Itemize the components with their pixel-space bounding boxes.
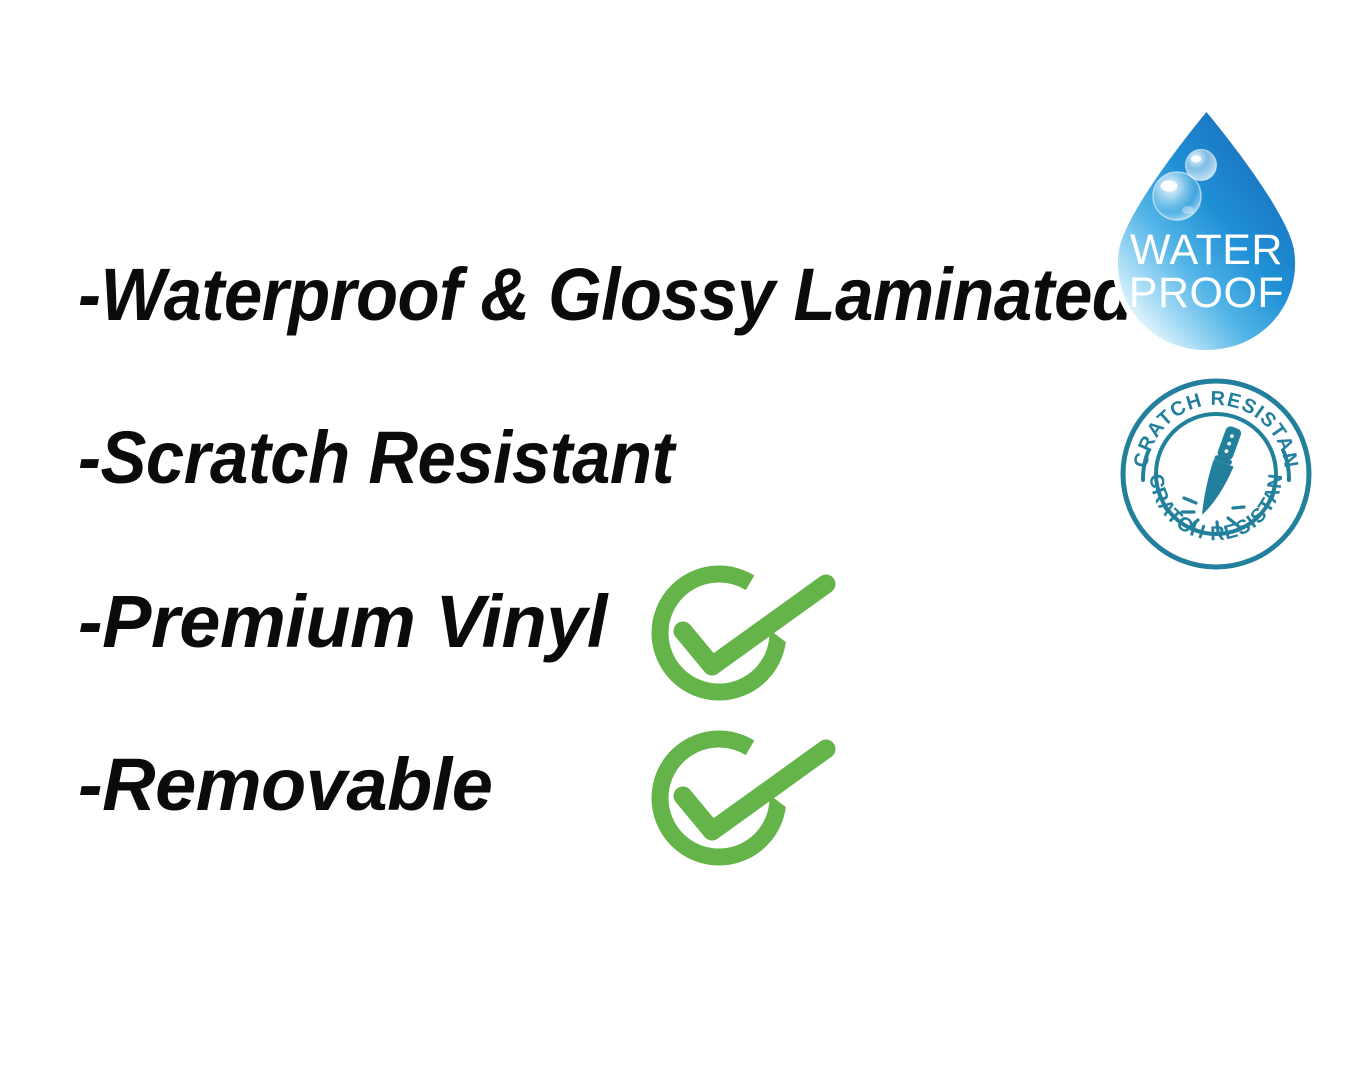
waterproof-label-line2: PROOF: [1129, 269, 1284, 317]
feature-list: -Waterproof & Glossy Laminated -Scratch …: [0, 0, 1100, 1080]
water-bubble-icon-large: [1153, 172, 1201, 220]
scratch-resistant-stamp: SCRATCH RESISTANT SCRATCH RESISTANT: [1118, 376, 1314, 572]
waterproof-label-line1: WATER: [1130, 226, 1283, 274]
knife-icon: [1195, 425, 1247, 520]
feature-item-premium-vinyl: -Premium Vinyl: [78, 585, 607, 659]
waterproof-drop-badge: WATER PROOF: [1104, 104, 1309, 366]
feature-item-waterproof-glossy-laminated: -Waterproof & Glossy Laminated: [78, 258, 1133, 332]
feature-item-removable: -Removable: [78, 748, 492, 822]
product-feature-graphic: -Waterproof & Glossy Laminated -Scratch …: [0, 0, 1359, 1080]
check-mark-removable: [645, 718, 845, 878]
feature-item-scratch-resistant: -Scratch Resistant: [78, 421, 674, 495]
check-mark-premium-vinyl: [645, 553, 845, 713]
